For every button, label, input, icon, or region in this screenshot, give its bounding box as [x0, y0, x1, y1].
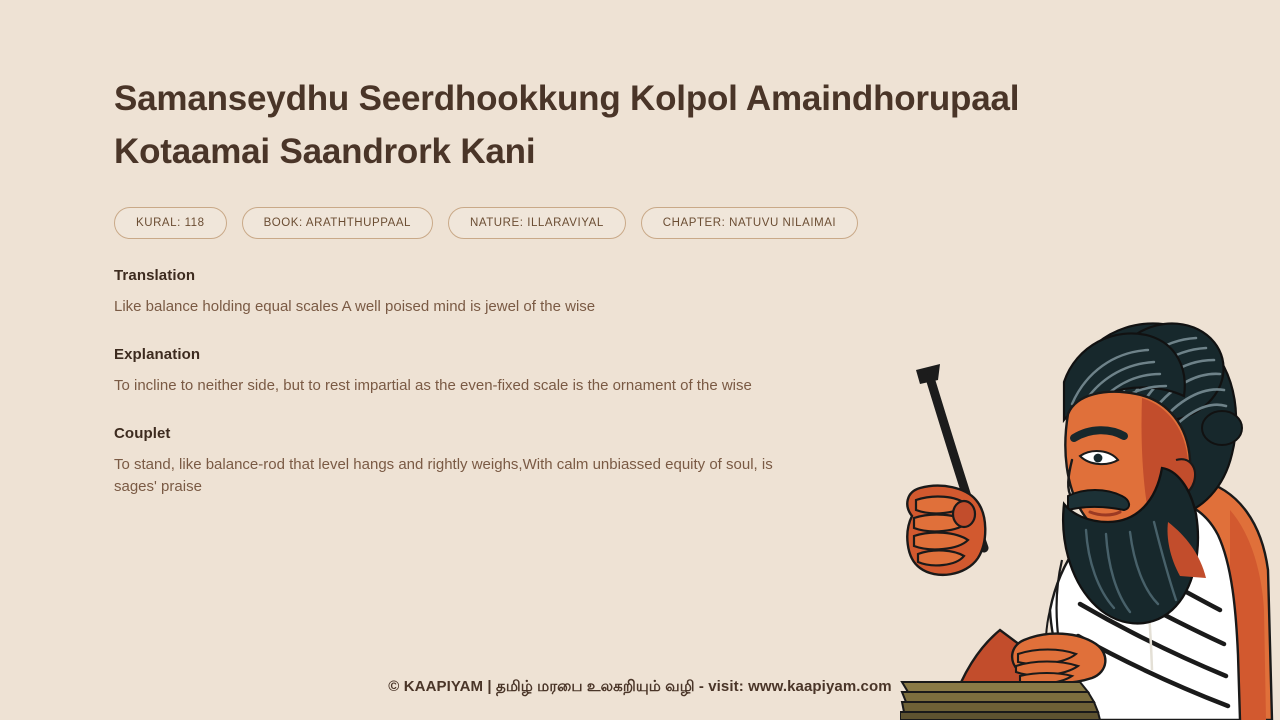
section-couplet: Couplet To stand, like balance-rod that … [114, 425, 1054, 498]
section-text-couplet: To stand, like balance-rod that level ha… [114, 454, 819, 498]
footer-credit-text: © KAAPIYAM | தமிழ் மரபை உலகறியும் வழி - … [388, 678, 891, 697]
pill-kural-number[interactable]: KURAL: 118 [114, 207, 227, 239]
kural-meta-pills: KURAL: 118 BOOK: ARATHTHUPPAAL NATURE: I… [114, 207, 1054, 239]
pill-chapter[interactable]: CHAPTER: NATUVU NILAIMAI [641, 207, 858, 239]
kural-title: Samanseydhu Seerdhookkung Kolpol Amaindh… [114, 72, 1044, 178]
section-label-couplet: Couplet [114, 425, 1054, 442]
section-label-translation: Translation [114, 267, 1054, 284]
section-text-explanation: To incline to neither side, but to rest … [114, 375, 819, 397]
section-text-translation: Like balance holding equal scales A well… [114, 296, 819, 318]
section-explanation: Explanation To incline to neither side, … [114, 346, 1054, 397]
section-label-explanation: Explanation [114, 346, 1054, 363]
pill-book[interactable]: BOOK: ARATHTHUPPAAL [242, 207, 433, 239]
kural-content: Samanseydhu Seerdhookkung Kolpol Amaindh… [114, 72, 1054, 498]
footer: © KAAPIYAM | தமிழ் மரபை உலகறியும் வழி - … [0, 678, 1280, 697]
pill-nature[interactable]: NATURE: ILLARAVIYAL [448, 207, 626, 239]
section-translation: Translation Like balance holding equal s… [114, 267, 1054, 318]
kural-card-page: Samanseydhu Seerdhookkung Kolpol Amaindh… [0, 0, 1280, 720]
